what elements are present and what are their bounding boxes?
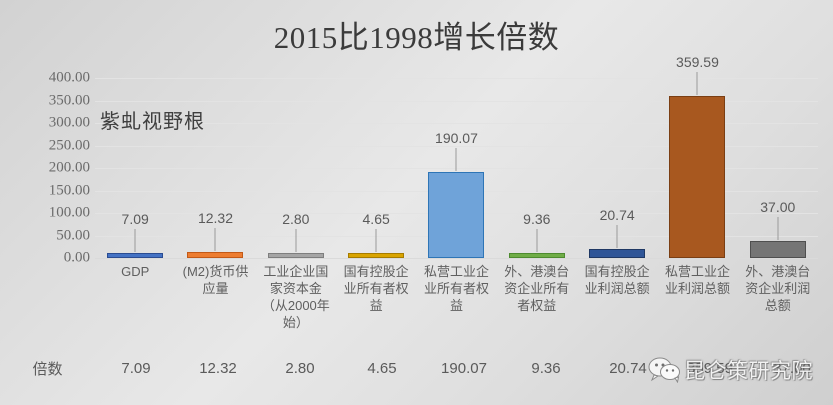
bar-group: 359.59 bbox=[657, 78, 737, 258]
chart-container: 2015比1998增长倍数 0.0050.00100.00150.00200.0… bbox=[0, 0, 833, 405]
x-axis-categories: GDP(M2)货币供应量工业企业国家资本金（从2000年始）国有控股企业所有者权… bbox=[95, 263, 818, 348]
chart-title: 2015比1998增长倍数 bbox=[0, 12, 833, 57]
y-axis-tick-label: 200.00 bbox=[2, 160, 90, 177]
label-leader-line bbox=[536, 229, 537, 252]
bar[interactable] bbox=[589, 249, 645, 258]
data-table-cell: 4.65 bbox=[341, 360, 423, 377]
data-table-cell: 7.09 bbox=[95, 360, 177, 377]
label-leader-line bbox=[456, 148, 457, 171]
data-table-cell: 12.32 bbox=[177, 360, 259, 377]
label-leader-line bbox=[697, 72, 698, 95]
x-axis-category-label: 私营工业企业所有者权益 bbox=[416, 263, 496, 348]
bar-value-label: 4.65 bbox=[363, 211, 390, 227]
bar[interactable] bbox=[268, 253, 324, 258]
gridline bbox=[95, 258, 818, 259]
data-table-row-header: 倍数 bbox=[0, 358, 95, 379]
bar[interactable] bbox=[750, 241, 806, 258]
x-axis-category-label: 国有控股企业利润总额 bbox=[577, 263, 657, 348]
bar-group: 190.07 bbox=[416, 78, 496, 258]
bar-value-label: 190.07 bbox=[435, 130, 478, 146]
data-table-cell: 9.36 bbox=[505, 360, 587, 377]
y-axis-tick-label: 50.00 bbox=[2, 227, 90, 244]
x-axis-category-label: 外、港澳台资企业所有者权益 bbox=[497, 263, 577, 348]
bar-value-label: 7.09 bbox=[122, 211, 149, 227]
x-axis-category-label: 工业企业国家资本金（从2000年始） bbox=[256, 263, 336, 348]
label-leader-line bbox=[135, 229, 136, 252]
bar[interactable] bbox=[187, 252, 243, 258]
data-table-cell: 190.07 bbox=[423, 360, 505, 377]
bar[interactable] bbox=[669, 96, 725, 258]
y-axis-tick-label: 300.00 bbox=[2, 115, 90, 132]
bar-value-label: 37.00 bbox=[760, 199, 795, 215]
bar[interactable] bbox=[348, 253, 404, 258]
x-axis-category-label: 外、港澳台资企业利润总额 bbox=[738, 263, 818, 348]
bar-group: 9.36 bbox=[497, 78, 577, 258]
wechat-icon bbox=[648, 357, 682, 383]
bar-value-label: 2.80 bbox=[282, 211, 309, 227]
bar-group: 2.80 bbox=[256, 78, 336, 258]
bar-value-label: 9.36 bbox=[523, 211, 550, 227]
label-leader-line bbox=[777, 217, 778, 240]
wechat-watermark-text: 昆仑策研究院 bbox=[684, 355, 813, 385]
bar[interactable] bbox=[107, 253, 163, 258]
x-axis-category-label: 私营工业企业利润总额 bbox=[657, 263, 737, 348]
y-axis-tick-label: 100.00 bbox=[2, 205, 90, 222]
x-axis-category-label: (M2)货币供应量 bbox=[175, 263, 255, 348]
bar-group: 37.00 bbox=[738, 78, 818, 258]
x-axis-category-label: GDP bbox=[95, 263, 175, 348]
bar[interactable] bbox=[509, 253, 565, 258]
y-axis-tick-label: 400.00 bbox=[2, 70, 90, 87]
y-axis-tick-label: 350.00 bbox=[2, 92, 90, 109]
bar-group: 7.09 bbox=[95, 78, 175, 258]
bar-group: 20.74 bbox=[577, 78, 657, 258]
bar-group: 12.32 bbox=[175, 78, 255, 258]
label-leader-line bbox=[617, 225, 618, 248]
x-axis-category-label: 国有控股企业所有者权益 bbox=[336, 263, 416, 348]
y-axis-tick-label: 250.00 bbox=[2, 137, 90, 154]
bar-series: 7.0912.322.804.65190.079.3620.74359.5937… bbox=[95, 78, 818, 258]
data-table-cell: 2.80 bbox=[259, 360, 341, 377]
wechat-watermark: 昆仑策研究院 bbox=[648, 355, 813, 385]
bar[interactable] bbox=[428, 172, 484, 258]
bar-value-label: 20.74 bbox=[600, 207, 635, 223]
label-leader-line bbox=[295, 229, 296, 252]
bar-value-label: 12.32 bbox=[198, 210, 233, 226]
y-axis-tick-label: 150.00 bbox=[2, 182, 90, 199]
label-leader-line bbox=[215, 228, 216, 251]
bar-value-label: 359.59 bbox=[676, 54, 719, 70]
y-axis-tick-label: 0.00 bbox=[2, 250, 90, 267]
label-leader-line bbox=[376, 229, 377, 252]
bar-group: 4.65 bbox=[336, 78, 416, 258]
